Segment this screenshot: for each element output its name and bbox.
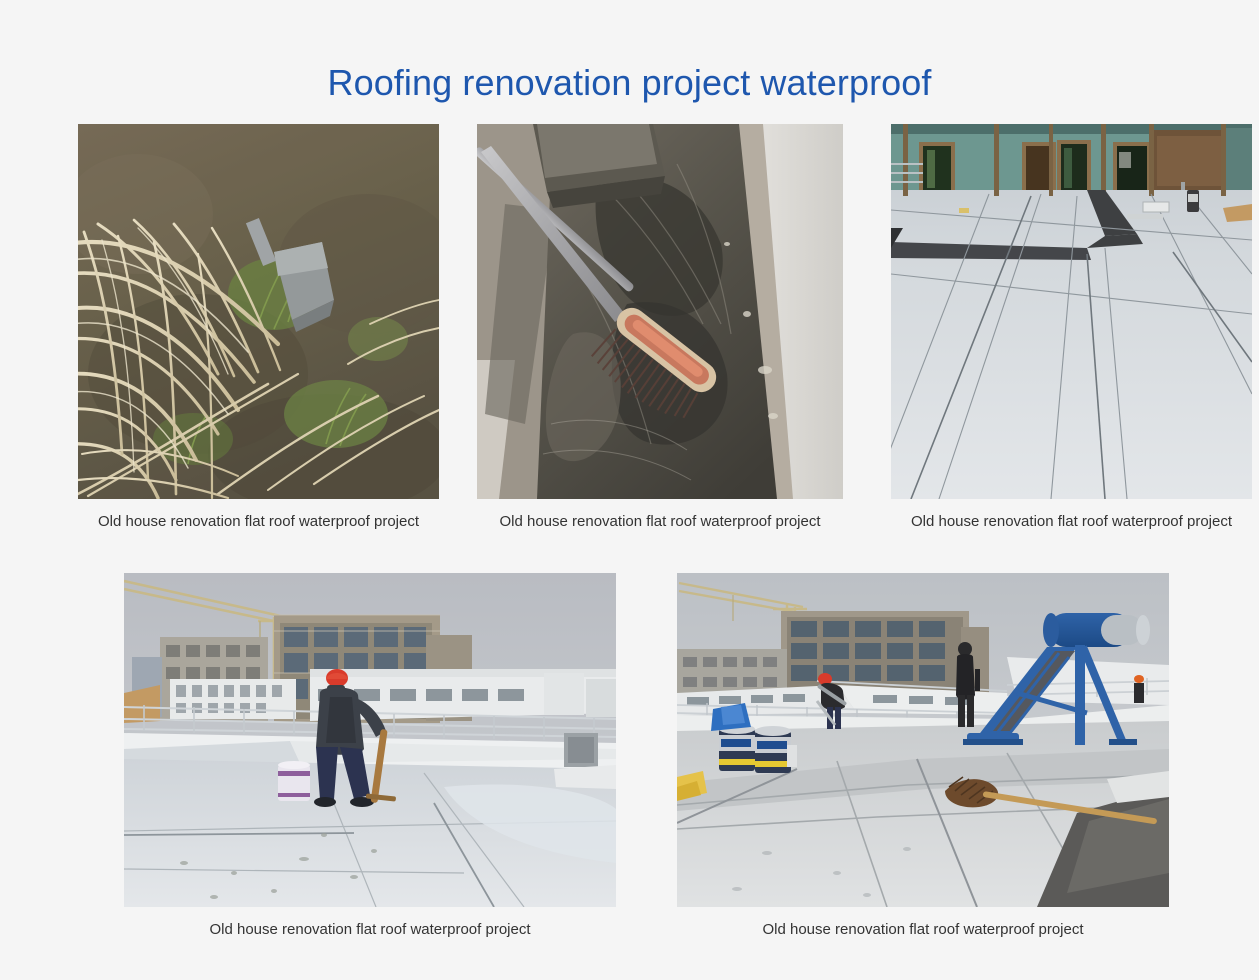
gallery-item-1[interactable]: Old house renovation flat roof waterproo…: [78, 124, 439, 532]
photo-2-caption: Old house renovation flat roof waterproo…: [477, 512, 843, 532]
photo-4-caption: Old house renovation flat roof waterproo…: [124, 920, 616, 940]
photo-4-frame[interactable]: [124, 573, 616, 907]
photo-3-image[interactable]: [891, 124, 1252, 499]
photo-4-image[interactable]: [124, 573, 616, 907]
gallery-item-2[interactable]: Old house renovation flat roof waterproo…: [477, 124, 843, 532]
photo-5-caption: Old house renovation flat roof waterproo…: [677, 920, 1169, 940]
doors: [919, 140, 1151, 190]
photo-5-frame[interactable]: [677, 573, 1169, 907]
page-title: Roofing renovation project waterproof: [0, 62, 1259, 104]
photo-1-image[interactable]: [78, 124, 439, 499]
gallery-item-3[interactable]: Old house renovation flat roof waterproo…: [891, 124, 1252, 532]
photo-1-caption: Old house renovation flat roof waterproo…: [78, 512, 439, 532]
worker-far-shape: [1134, 675, 1144, 703]
photo-1-frame[interactable]: [78, 124, 439, 499]
photo-5-image[interactable]: [677, 573, 1169, 907]
photo-3-frame[interactable]: [891, 124, 1252, 499]
paint-bucket-shape: [278, 761, 310, 801]
gallery-item-5[interactable]: Old house renovation flat roof waterproo…: [677, 573, 1169, 940]
shovel-shape: [533, 124, 665, 208]
gallery-item-4[interactable]: Old house renovation flat roof waterproo…: [124, 573, 616, 940]
photo-2-frame[interactable]: [477, 124, 843, 499]
photo-2-image[interactable]: [477, 124, 843, 499]
photo-3-caption: Old house renovation flat roof waterproo…: [891, 512, 1252, 532]
